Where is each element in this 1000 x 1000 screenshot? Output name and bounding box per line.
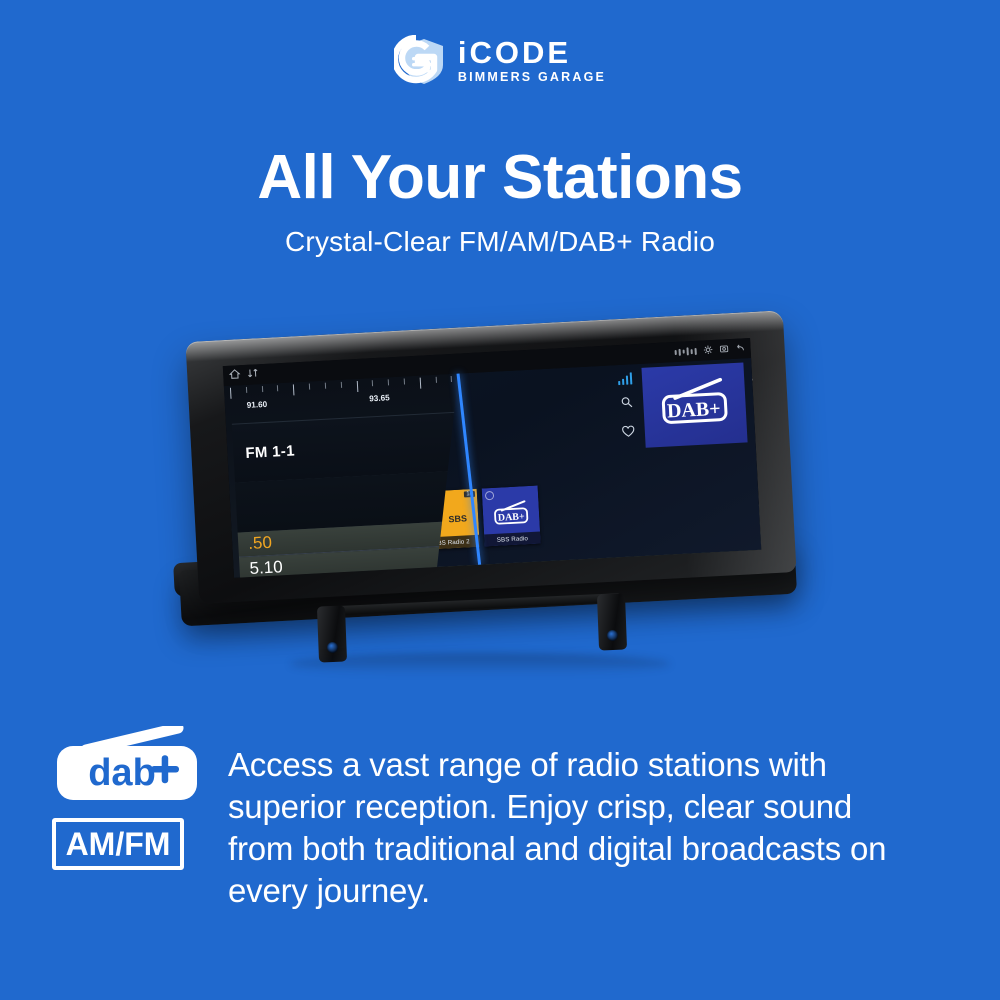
dab-radio-icon: DAB+ xyxy=(490,499,532,532)
svg-text:DAB+: DAB+ xyxy=(666,398,721,423)
page-subtitle: Crystal-Clear FM/AM/DAB+ Radio xyxy=(0,226,1000,258)
device-screen[interactable]: 91.6093.6595.7097.7599.80 FM 1-1 87.50 .… xyxy=(223,338,762,578)
feature-badges: dab AM/FM xyxy=(52,726,214,870)
brand-logo: iCODE BIMMERS GARAGE xyxy=(0,27,1000,95)
svg-text:DAB+: DAB+ xyxy=(498,511,526,523)
shield-g-icon xyxy=(394,35,448,87)
svg-text:dab: dab xyxy=(88,752,156,794)
dab-action-icons xyxy=(616,372,638,443)
signal-bars-icon xyxy=(618,372,633,385)
home-icon[interactable] xyxy=(229,366,241,385)
status-indicator-dots xyxy=(674,347,696,356)
bluetooth-transfer-icon[interactable] xyxy=(247,365,261,384)
dab-radio-icon: dab xyxy=(52,726,204,804)
head-unit-device: 91.6093.6595.7097.7599.80 FM 1-1 87.50 .… xyxy=(170,318,830,678)
amfm-badge: AM/FM xyxy=(52,818,184,870)
station-number: 14 xyxy=(464,491,475,498)
preset-value: 5.10 xyxy=(249,557,283,578)
mount-bracket-left xyxy=(317,605,347,662)
fm-scale-tick-label: 93.65 xyxy=(369,393,390,403)
brand-name: iCODE xyxy=(458,37,606,69)
brand-tagline: BIMMERS GARAGE xyxy=(458,71,606,85)
screenshot-icon[interactable] xyxy=(719,340,729,358)
page-title: All Your Stations xyxy=(0,142,1000,213)
feature-description: Access a vast range of radio stations wi… xyxy=(228,744,918,912)
mount-bracket-right xyxy=(597,593,627,650)
promo-banner: iCODE BIMMERS GARAGE All Your Stations C… xyxy=(0,0,1000,1000)
fm-scale-tick-label: 91.60 xyxy=(247,400,268,410)
device-bezel: 91.6093.6595.7097.7599.80 FM 1-1 87.50 .… xyxy=(185,310,796,603)
station-tile[interactable]: DAB+SBS Radio xyxy=(482,486,541,547)
settings-icon[interactable] xyxy=(703,341,713,359)
dab-hero-tile: DAB+ xyxy=(641,362,747,447)
device-reflection xyxy=(290,653,670,675)
back-icon[interactable] xyxy=(735,339,745,357)
fm-band-label: FM 1-1 xyxy=(245,442,295,462)
dab-radio-icon: DAB+ xyxy=(654,377,735,433)
preset-value: .50 xyxy=(248,533,273,554)
heart-icon[interactable] xyxy=(621,424,635,443)
amfm-badge-label: AM/FM xyxy=(66,828,171,860)
station-name: SBS Radio xyxy=(484,531,541,546)
search-icon[interactable] xyxy=(619,395,633,414)
